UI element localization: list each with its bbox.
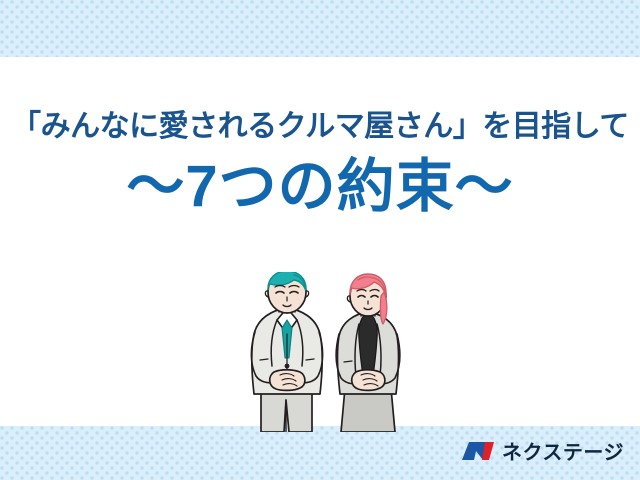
- top-dot-band: [0, 0, 640, 57]
- promo-banner: 「みんなに愛されるクルマ屋さん」を目指して 〜7つの約束〜: [0, 0, 640, 480]
- two-bowing-staff-illustration: [228, 272, 418, 432]
- headline-line-2: 〜7つの約束〜: [0, 158, 640, 216]
- nextage-logo-text: ネクステージ: [502, 436, 624, 465]
- headline-block: 「みんなに愛されるクルマ屋さん」を目指して 〜7つの約束〜: [0, 112, 640, 216]
- female-staff-figure: [336, 274, 400, 432]
- nextage-n-logo-icon: [461, 440, 495, 462]
- headline-line-1: 「みんなに愛されるクルマ屋さん」を目指して: [0, 112, 640, 142]
- nextage-logo[interactable]: ネクステージ: [461, 436, 624, 465]
- male-staff-figure: [251, 272, 322, 432]
